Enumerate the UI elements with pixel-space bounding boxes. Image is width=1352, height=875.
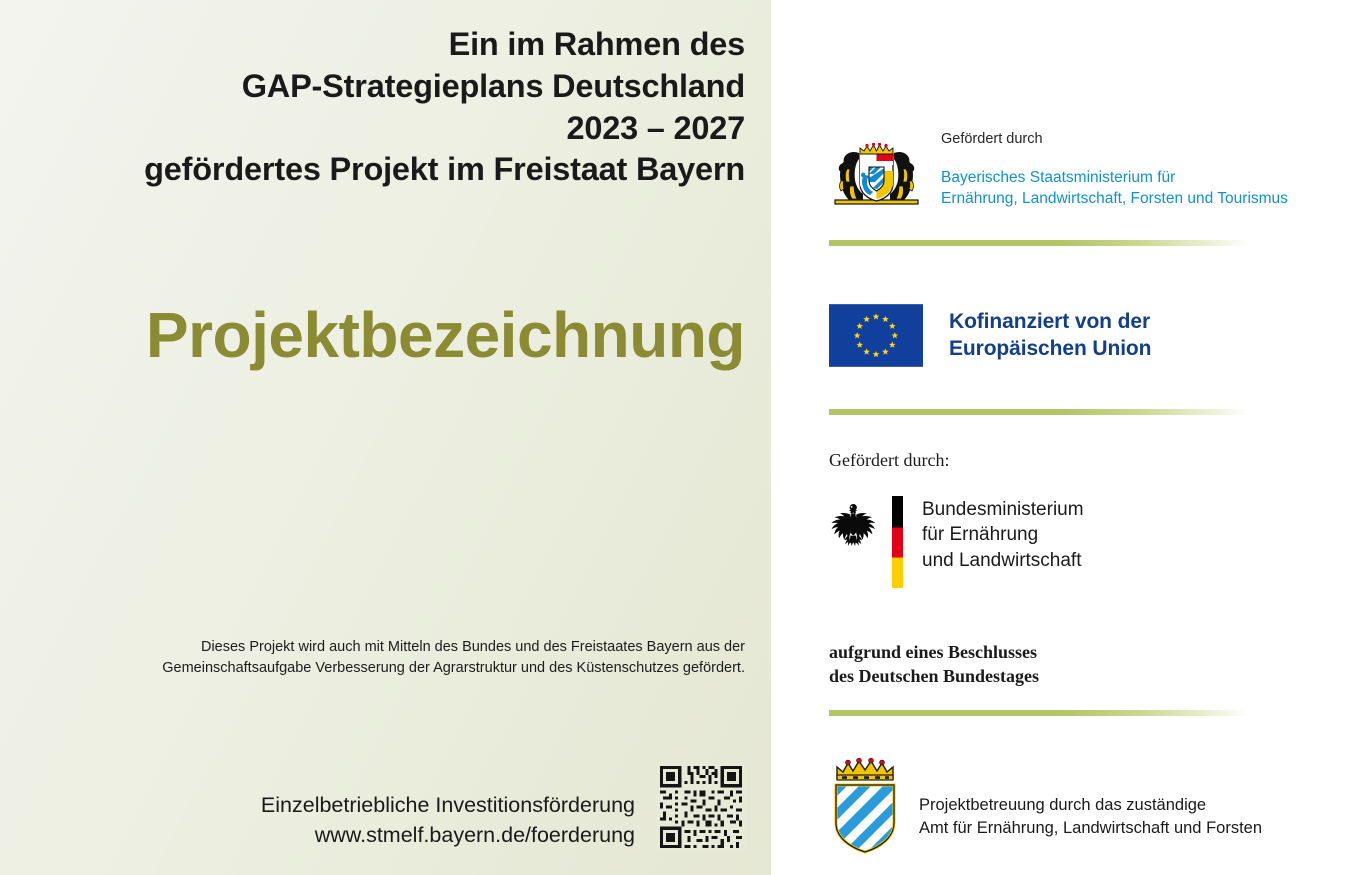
german-flag-bar-icon bbox=[892, 496, 903, 588]
headline-line-3: 2023 – 2027 bbox=[35, 108, 745, 150]
bavaria-coat-of-arms-icon bbox=[829, 139, 924, 207]
bavaria-shield-icon bbox=[829, 755, 901, 855]
aelf-block: Projektbetreuung durch das zuständige Am… bbox=[829, 755, 1262, 855]
aelf-line-1: Projektbetreuung durch das zuständige bbox=[919, 794, 1262, 817]
bundestag-note-line-2: des Deutschen Bundestages bbox=[829, 664, 1039, 688]
qr-code-icon[interactable] bbox=[657, 763, 745, 851]
eu-cofunded-text: Kofinanziert von der Europäischen Union bbox=[949, 309, 1151, 363]
bmel-funded-label: Gefördert durch: bbox=[829, 450, 949, 471]
footer-text: Einzelbetriebliche Investitionsförderung… bbox=[261, 790, 635, 851]
bundesadler-icon bbox=[829, 500, 877, 552]
bmel-ministry-name: Bundesministerium für Ernährung und Land… bbox=[922, 496, 1084, 573]
right-panel: Gefördert durch Bayerisches Staatsminist… bbox=[771, 0, 1352, 875]
website-url[interactable]: www.stmelf.bayern.de/foerderung bbox=[261, 820, 635, 851]
headline-line-2: GAP-Strategieplans Deutschland bbox=[35, 66, 745, 108]
bundestag-note-line-1: aufgrund eines Beschlusses bbox=[829, 640, 1039, 664]
project-title: Projektbezeichnung bbox=[0, 303, 745, 367]
gak-note-line-1: Dieses Projekt wird auch mit Mitteln des… bbox=[45, 637, 745, 658]
divider-1 bbox=[829, 240, 1249, 246]
divider-3 bbox=[829, 710, 1249, 716]
bavaria-ministry-line-1: Bayerisches Staatsministerium für bbox=[941, 167, 1288, 188]
eu-flag-icon bbox=[829, 304, 923, 367]
eu-cofunded-line-2: Europäischen Union bbox=[949, 336, 1151, 363]
bavaria-funded-label: Gefördert durch bbox=[941, 130, 1288, 149]
bavaria-ministry-block: Gefördert durch Bayerisches Staatsminist… bbox=[829, 128, 1288, 209]
headline-line-1: Ein im Rahmen des bbox=[35, 24, 745, 66]
bavaria-ministry-text: Gefördert durch Bayerisches Staatsminist… bbox=[941, 128, 1288, 209]
bavaria-ministry-name: Bayerisches Staatsministerium für Ernähr… bbox=[941, 167, 1288, 209]
aelf-line-2: Amt für Ernährung, Landwirtschaft und Fo… bbox=[919, 817, 1262, 840]
bmel-logo-block: Bundesministerium für Ernährung und Land… bbox=[829, 496, 1084, 588]
divider-2 bbox=[829, 409, 1249, 415]
gak-funding-note: Dieses Projekt wird auch mit Mitteln des… bbox=[45, 637, 745, 680]
bmel-name-line-1: Bundesministerium bbox=[922, 497, 1084, 522]
bavaria-ministry-line-2: Ernährung, Landwirtschaft, Forsten und T… bbox=[941, 188, 1288, 209]
eu-cofunded-line-1: Kofinanziert von der bbox=[949, 309, 1151, 336]
headline: Ein im Rahmen des GAP-Strategieplans Deu… bbox=[35, 24, 745, 191]
bundestag-note: aufgrund eines Beschlusses des Deutschen… bbox=[829, 640, 1039, 689]
aelf-text: Projektbetreuung durch das zuständige Am… bbox=[919, 770, 1262, 840]
programme-name: Einzelbetriebliche Investitionsförderung bbox=[261, 790, 635, 821]
headline-line-4: gefördertes Projekt im Freistaat Bayern bbox=[35, 149, 745, 191]
funding-poster: Ein im Rahmen des GAP-Strategieplans Deu… bbox=[0, 0, 1352, 875]
bmel-name-line-2: für Ernährung bbox=[922, 522, 1084, 547]
gak-note-line-2: Gemeinschaftsaufgabe Verbesserung der Ag… bbox=[45, 658, 745, 679]
footer-block: Einzelbetriebliche Investitionsförderung… bbox=[0, 763, 745, 851]
bmel-name-line-3: und Landwirtschaft bbox=[922, 548, 1084, 573]
left-panel: Ein im Rahmen des GAP-Strategieplans Deu… bbox=[0, 0, 771, 875]
eu-block: Kofinanziert von der Europäischen Union bbox=[829, 304, 1151, 367]
